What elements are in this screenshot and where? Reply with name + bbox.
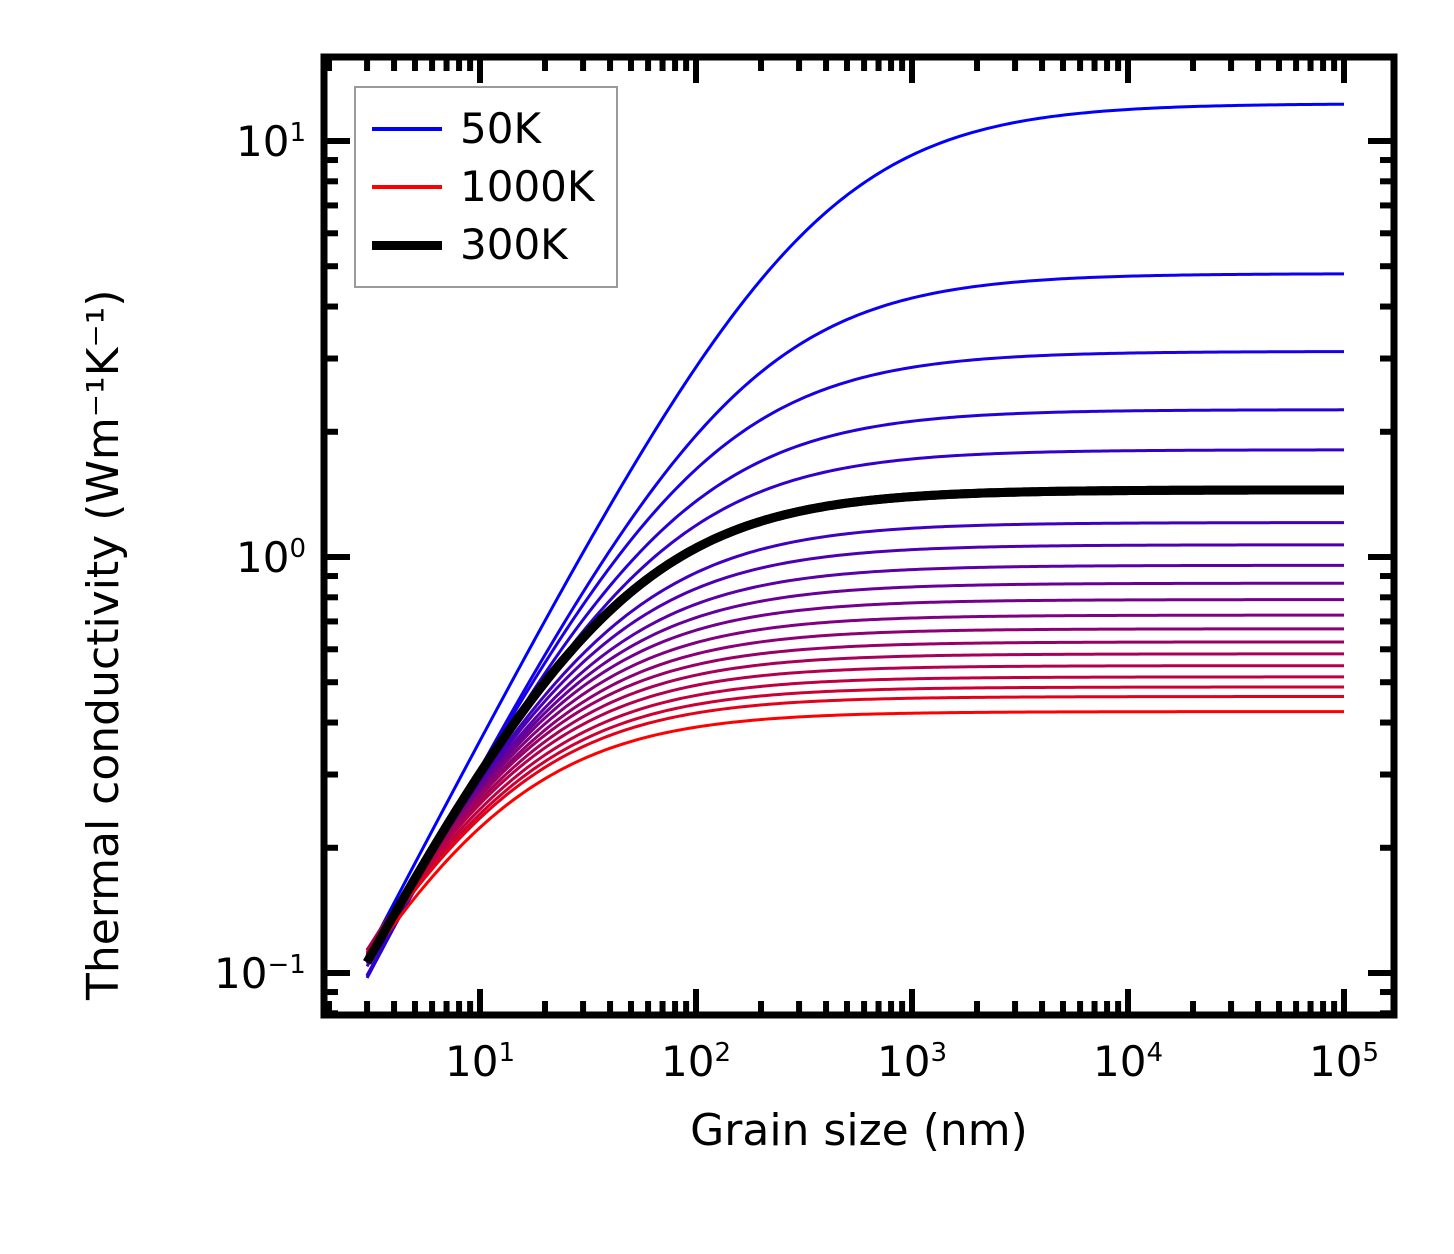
curve-300K-highlight [367, 490, 1344, 962]
x-axis-label: Grain size (nm) [324, 1105, 1394, 1156]
x-tick-label-0: 101 [445, 1037, 515, 1086]
legend-label-0: 50K [460, 108, 541, 150]
y-tick-label-1: 100 [236, 533, 306, 582]
x-tick-label-3: 104 [1093, 1037, 1163, 1086]
legend-label-1: 1000K [460, 166, 594, 208]
legend-swatch-50k [372, 127, 442, 131]
curve-150K [367, 352, 1344, 976]
figure-canvas: Thermal conductivity (Wm⁻¹K⁻¹) Grain siz… [0, 0, 1454, 1254]
x-tick-label-1: 102 [661, 1037, 731, 1086]
legend-item-0: 50K [372, 100, 594, 158]
legend-swatch-300k [372, 241, 442, 250]
y-axis-label: Thermal conductivity (Wm⁻¹K⁻¹) [78, 290, 129, 1001]
legend-swatch-1000k [372, 185, 442, 189]
legend-item-2: 300K [372, 216, 594, 274]
y-tick-label-0: 10−1 [214, 949, 306, 998]
x-tick-label-2: 103 [877, 1037, 947, 1086]
curve-200K [367, 410, 1344, 976]
legend-item-1: 1000K [372, 158, 594, 216]
x-tick-label-4: 105 [1309, 1037, 1379, 1086]
legend-label-2: 300K [460, 224, 568, 266]
y-tick-label-2: 101 [236, 117, 306, 166]
y-axis-label-wrap: Thermal conductivity (Wm⁻¹K⁻¹) [0, 0, 100, 1060]
legend[interactable]: 50K 1000K 300K [354, 86, 618, 288]
